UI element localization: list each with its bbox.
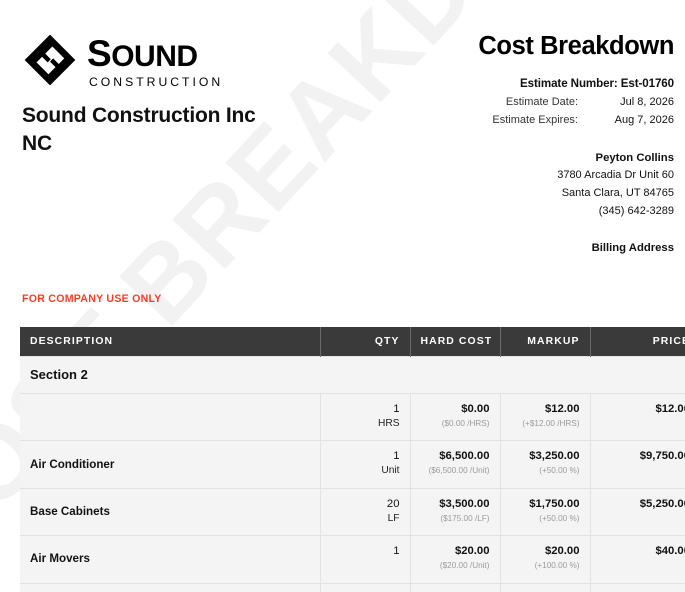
contact-address-line1: 3780 Arcadia Dr Unit 60: [417, 167, 674, 185]
column-header-markup: MARKUP: [500, 327, 590, 357]
row-description: Base Cabinets: [20, 488, 320, 536]
logo-lockup: SOUND CONSTRUCTION: [22, 32, 322, 88]
section-total-price: $15,052.00: [590, 583, 685, 592]
section-total-markup: +$5,032.00: [500, 583, 590, 592]
column-header-hard-cost: HARD COST: [410, 327, 500, 357]
logo-word-sub: CONSTRUCTION: [89, 76, 223, 88]
column-header-qty: QTY: [320, 327, 410, 357]
row-markup-rate: (+50.00 %): [511, 513, 580, 525]
row-qty-value: 1: [331, 450, 400, 464]
row-markup: $1,750.00 (+50.00 %): [500, 488, 590, 536]
logo-word-main: SOUND: [87, 35, 223, 72]
company-name-line1: Sound Construction Inc: [22, 102, 322, 130]
contact-phone: (345) 642-3289: [417, 203, 674, 221]
contact-block: Peyton Collins 3780 Arcadia Dr Unit 60 S…: [417, 149, 674, 221]
table-body: Section 2 1 HRS $0.00 ($0.00 /HRS): [20, 356, 685, 592]
section-total-row: Section 2 Total $10,020.00 +$5,032.00 $1…: [20, 583, 685, 592]
estimate-expires-row: Estimate Expires: Aug 7, 2026: [417, 114, 674, 126]
section-total-hard-cost: $10,020.00: [410, 583, 500, 592]
contact-name: Peyton Collins: [417, 149, 674, 167]
row-price: $12.00: [590, 393, 685, 441]
branding-block: SOUND CONSTRUCTION Sound Construction In…: [22, 32, 322, 254]
row-markup-value: $1,750.00: [511, 498, 580, 512]
cost-breakdown-page: COST BREAKDOWN SOUND CONSTRUCTION: [0, 0, 685, 592]
estimate-number: Estimate Number: Est-01760: [417, 77, 674, 90]
row-hard-cost-rate: ($0.00 /HRS): [421, 418, 490, 430]
row-price-value: $12.00: [601, 403, 685, 417]
row-description: Air Movers: [20, 536, 320, 583]
row-hard-cost: $6,500.00 ($6,500.00 /Unit): [410, 441, 500, 489]
column-header-description: DESCRIPTION: [20, 327, 320, 357]
row-markup-value: $3,250.00: [511, 450, 580, 464]
row-hard-cost-rate: ($175.00 /LF): [421, 513, 490, 525]
table-header-row: DESCRIPTION QTY HARD COST MARKUP PRICE: [20, 327, 685, 357]
row-description: Air Conditioner: [20, 441, 320, 489]
row-qty-value: 20: [331, 498, 400, 512]
document-header: SOUND CONSTRUCTION Sound Construction In…: [0, 0, 685, 254]
row-markup: $20.00 (+100.00 %): [500, 536, 590, 583]
row-qty: 20 LF: [320, 488, 410, 536]
estimate-expires-value: Aug 7, 2026: [578, 114, 674, 126]
section-total-label: Section 2 Total: [320, 583, 410, 592]
row-qty-value: 1: [331, 403, 400, 417]
row-qty: 1 HRS: [320, 393, 410, 441]
estimate-meta-block: Cost Breakdown Estimate Number: Est-0176…: [417, 32, 677, 254]
table-row: Base Cabinets 20 LF $3,500.00 ($175.00 /…: [20, 488, 685, 536]
row-hard-cost: $20.00 ($20.00 /Unit): [410, 536, 500, 583]
row-hard-cost-value: $6,500.00: [421, 450, 490, 464]
company-name: Sound Construction Inc NC: [22, 102, 322, 158]
row-hard-cost-rate: ($20.00 /Unit): [421, 560, 490, 572]
table-row: Air Conditioner 1 Unit $6,500.00 ($6,500…: [20, 441, 685, 489]
row-qty-unit: LF: [331, 512, 400, 526]
estimate-date-row: Estimate Date: Jul 8, 2026: [417, 96, 674, 108]
cost-breakdown-table: DESCRIPTION QTY HARD COST MARKUP PRICE S…: [20, 327, 685, 592]
row-price-value: $5,250.00: [601, 498, 685, 512]
company-use-notice: FOR COMPANY USE ONLY: [22, 293, 685, 305]
row-qty: 1 Unit: [320, 441, 410, 489]
row-markup-rate: (+100.00 %): [511, 560, 580, 572]
page-title: Cost Breakdown: [417, 32, 674, 60]
row-markup-value: $12.00: [511, 403, 580, 417]
table-row: Air Movers 1 $20.00 ($20.00 /Unit) $20.0…: [20, 536, 685, 583]
row-markup-value: $20.00: [511, 545, 580, 559]
company-name-line2: NC: [22, 130, 322, 158]
row-description: [20, 393, 320, 441]
table-row: 1 HRS $0.00 ($0.00 /HRS) $12.00 (+$12.00…: [20, 393, 685, 441]
table-header: DESCRIPTION QTY HARD COST MARKUP PRICE: [20, 327, 685, 357]
row-hard-cost: $0.00 ($0.00 /HRS): [410, 393, 500, 441]
total-spacer: [20, 583, 320, 592]
row-hard-cost-value: $20.00: [421, 545, 490, 559]
row-markup-rate: (+$12.00 /HRS): [511, 418, 580, 430]
section-heading-row: Section 2: [20, 356, 685, 393]
row-hard-cost-value: $0.00: [421, 403, 490, 417]
row-qty-value: 1: [331, 545, 400, 559]
row-hard-cost: $3,500.00 ($175.00 /LF): [410, 488, 500, 536]
row-qty: 1: [320, 536, 410, 583]
row-hard-cost-rate: ($6,500.00 /Unit): [421, 465, 490, 477]
sound-construction-bolt-logo-icon: [22, 32, 78, 88]
cost-breakdown-table-wrapper: DESCRIPTION QTY HARD COST MARKUP PRICE S…: [20, 327, 685, 592]
row-hard-cost-value: $3,500.00: [421, 498, 490, 512]
row-markup-rate: (+50.00 %): [511, 465, 580, 477]
row-price: $40.00: [590, 536, 685, 583]
estimate-expires-label: Estimate Expires:: [492, 114, 578, 126]
contact-address-line2: Santa Clara, UT 84765: [417, 185, 674, 203]
row-price: $9,750.00: [590, 441, 685, 489]
row-price: $5,250.00: [590, 488, 685, 536]
row-markup: $12.00 (+$12.00 /HRS): [500, 393, 590, 441]
logo-wordmark: SOUND CONSTRUCTION: [87, 32, 223, 88]
row-qty-unit: Unit: [331, 464, 400, 478]
column-header-price: PRICE: [590, 327, 685, 357]
section-title: Section 2: [20, 356, 685, 393]
row-qty-unit: HRS: [331, 417, 400, 431]
row-price-value: $9,750.00: [601, 450, 685, 464]
billing-address-label: Billing Address: [417, 242, 674, 254]
estimate-date-label: Estimate Date:: [506, 96, 578, 108]
estimate-date-value: Jul 8, 2026: [578, 96, 674, 108]
row-price-value: $40.00: [601, 545, 685, 559]
row-markup: $3,250.00 (+50.00 %): [500, 441, 590, 489]
